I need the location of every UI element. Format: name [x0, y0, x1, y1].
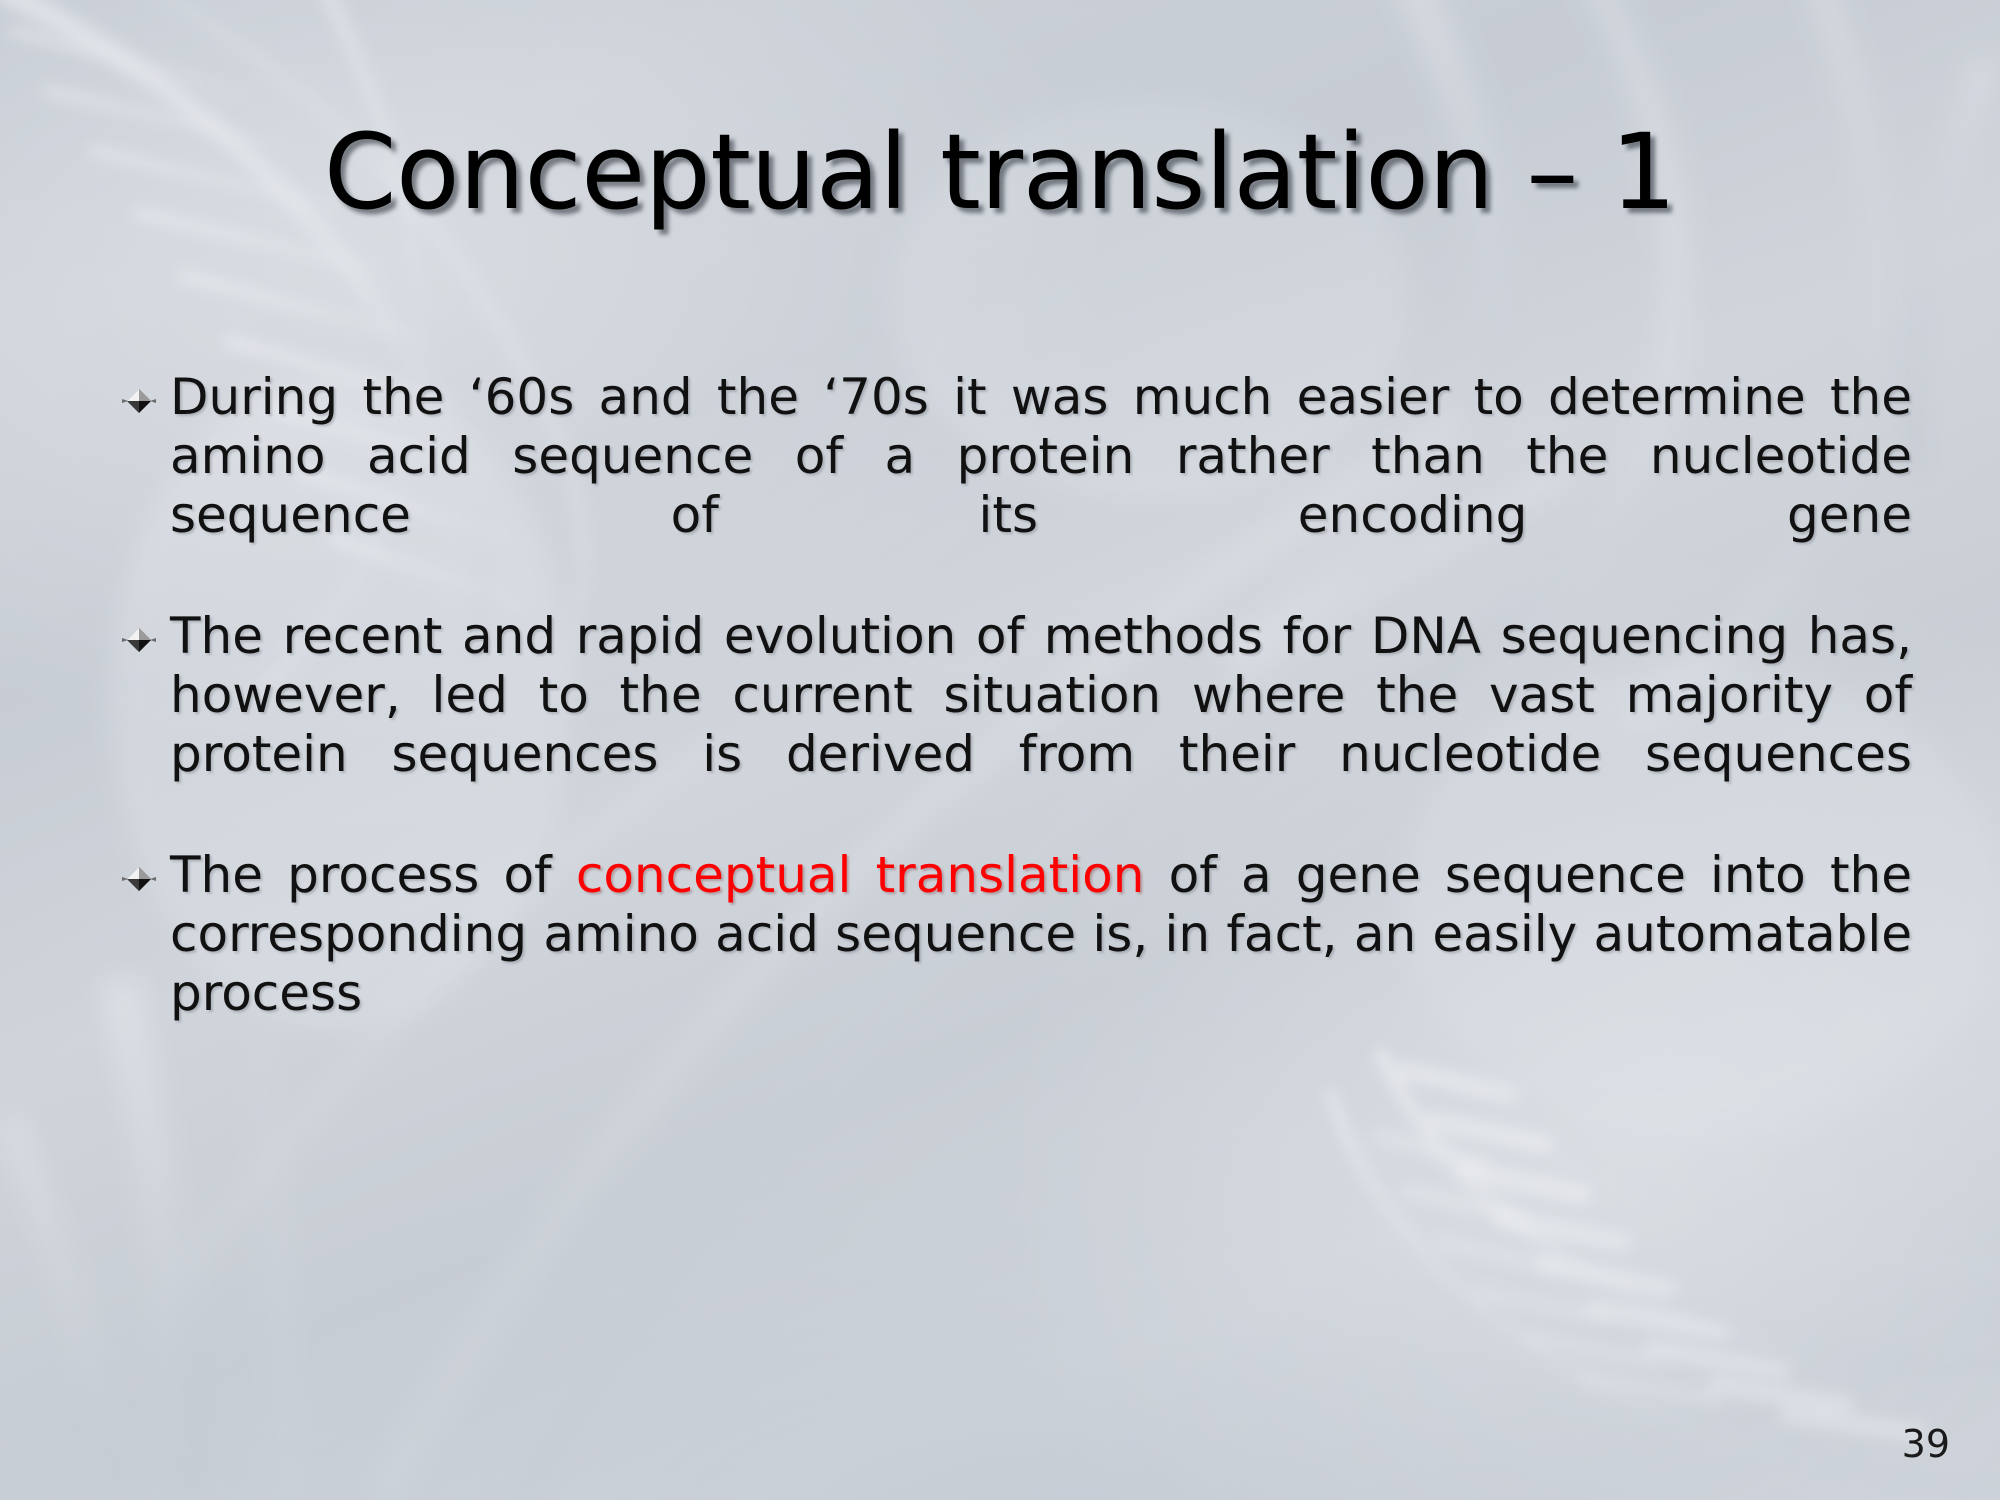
page-number: 39 [1902, 1422, 1950, 1466]
diamond-arrow-bullet-icon [122, 625, 156, 659]
slide-title: Conceptual translation – 1 [0, 118, 2000, 227]
bullet-text: The process of conceptual translation of… [170, 846, 1912, 1081]
bullet-text: The recent and rapid evolution of method… [170, 607, 1912, 842]
bullet-text-segment: During the ‘60s and the ‘70s it was much… [170, 368, 1912, 544]
highlighted-term: conceptual translation [576, 846, 1145, 904]
slide-body-content: During the ‘60s and the ‘70s it was much… [122, 368, 1912, 1085]
presentation-slide: Conceptual translation – 1 During the ‘6… [0, 0, 2000, 1500]
bullet-text-segment: The process of [170, 846, 576, 904]
bullet-text: During the ‘60s and the ‘70s it was much… [170, 368, 1912, 603]
bullet-item: The process of conceptual translation of… [122, 846, 1912, 1081]
bullet-item: During the ‘60s and the ‘70s it was much… [122, 368, 1912, 603]
bullet-item: The recent and rapid evolution of method… [122, 607, 1912, 842]
bullet-text-segment: The recent and rapid evolution of method… [170, 607, 1912, 783]
diamond-arrow-bullet-icon [122, 864, 156, 898]
diamond-arrow-bullet-icon [122, 386, 156, 420]
